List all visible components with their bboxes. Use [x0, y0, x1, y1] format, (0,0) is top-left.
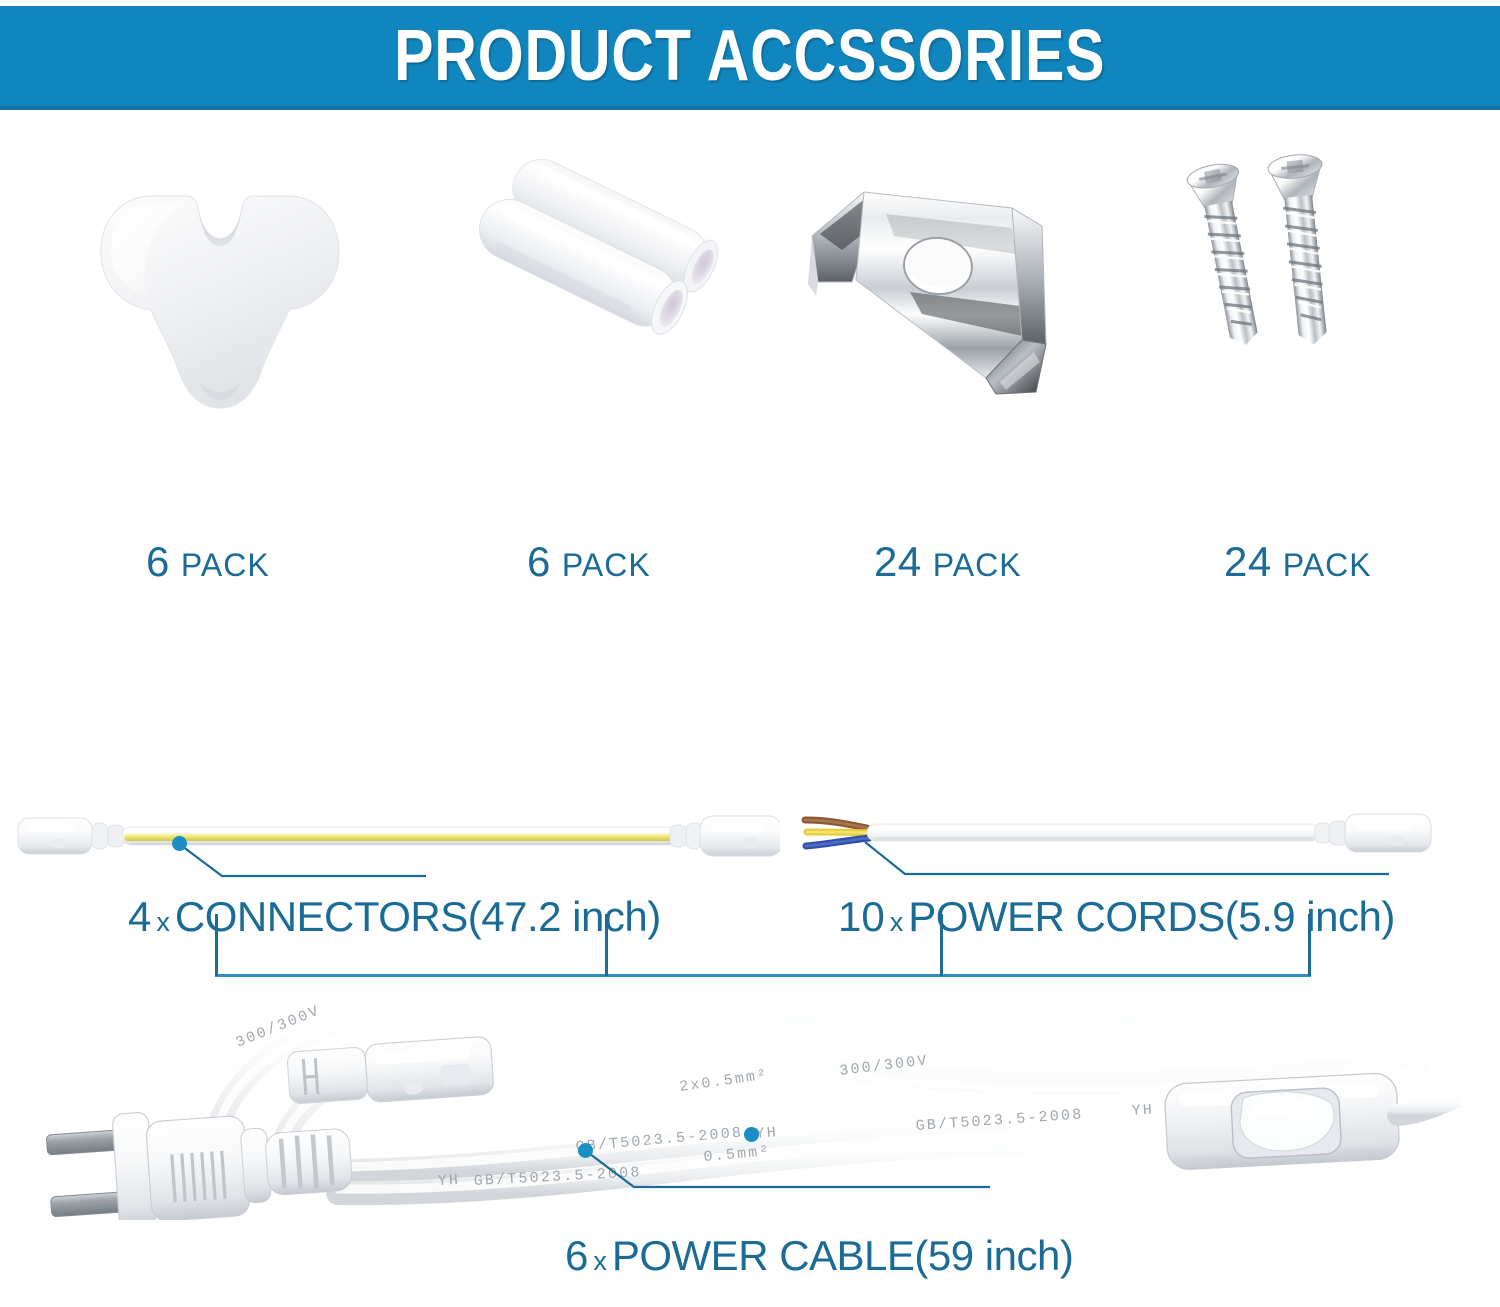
power-cable-print-dot — [744, 1127, 759, 1142]
svg-text:YH: YH — [437, 1172, 460, 1190]
power-cord-description: POWER CORDS(5.9 inch) — [908, 893, 1395, 940]
connector-cable-leader-line — [176, 840, 436, 886]
pack-unit: PACK — [562, 547, 651, 583]
part-item-screws — [1165, 130, 1385, 460]
power-cable-quantity: 6 — [565, 1232, 588, 1279]
screws-icon — [1165, 130, 1385, 460]
power-cable-figure: GB/T5023.5-2008 YH GB/T5023.5-2008 YH 60… — [20, 955, 1460, 1220]
pack-label-metal-bracket: 24 PACK — [874, 538, 1022, 586]
pack-label-screws: 24 PACK — [1224, 538, 1372, 586]
power-cable-caption: 6xPOWER CABLE(59 inch) — [565, 1232, 1073, 1280]
connector-quantity: 4 — [128, 893, 151, 940]
pack-unit: PACK — [1283, 547, 1372, 583]
parts-row — [0, 130, 1500, 470]
power-cord-quantity: 10 — [838, 893, 885, 940]
quantity-bracket — [0, 455, 1500, 525]
pack-quantity: 6 — [146, 538, 170, 585]
part-item-tube-connector — [460, 130, 730, 460]
connector-cable-callout-dot — [172, 836, 187, 851]
pack-label-tube-connector: 6 PACK — [527, 538, 651, 586]
pack-unit: PACK — [933, 547, 1022, 583]
power-cord-multiplier: x — [885, 907, 909, 937]
double-tube-connector-icon — [460, 130, 730, 460]
part-item-trefoil-clip — [95, 130, 345, 460]
power-cable-callout-dot — [578, 1143, 593, 1158]
svg-text:2x0.5mm²: 2x0.5mm² — [678, 1067, 769, 1096]
connector-description: CONNECTORS(47.2 inch) — [175, 893, 661, 940]
page-title: PRODUCT ACCSSORIES — [394, 15, 1105, 97]
connector-cable-figure — [10, 796, 780, 876]
svg-text:YH: YH — [1131, 1101, 1155, 1120]
power-cord-caption: 10xPOWER CORDS(5.9 inch) — [838, 893, 1395, 941]
connector-cable-caption: 4xCONNECTORS(47.2 inch) — [128, 893, 661, 941]
part-item-metal-bracket — [790, 130, 1060, 460]
connector-multiplier: x — [151, 907, 175, 937]
power-cord-figure — [795, 796, 1485, 876]
power-cable-multiplier: x — [588, 1246, 612, 1276]
product-accessories-page: PRODUCT ACCSSORIES — [0, 0, 1500, 1307]
power-cable-leader-line — [578, 1143, 998, 1203]
page-header-banner: PRODUCT ACCSSORIES — [0, 6, 1500, 110]
pack-label-trefoil-clip: 6 PACK — [146, 538, 270, 586]
metal-mounting-bracket-icon — [790, 130, 1060, 460]
pack-quantity: 24 — [874, 538, 922, 585]
pack-quantity: 6 — [527, 538, 551, 585]
pack-unit: PACK — [181, 547, 270, 583]
pack-quantity: 24 — [1224, 538, 1272, 585]
trefoil-mounting-clip-icon — [95, 130, 345, 460]
power-cable-description: POWER CABLE(59 inch) — [612, 1232, 1073, 1279]
power-cord-leader-line — [857, 836, 1397, 884]
